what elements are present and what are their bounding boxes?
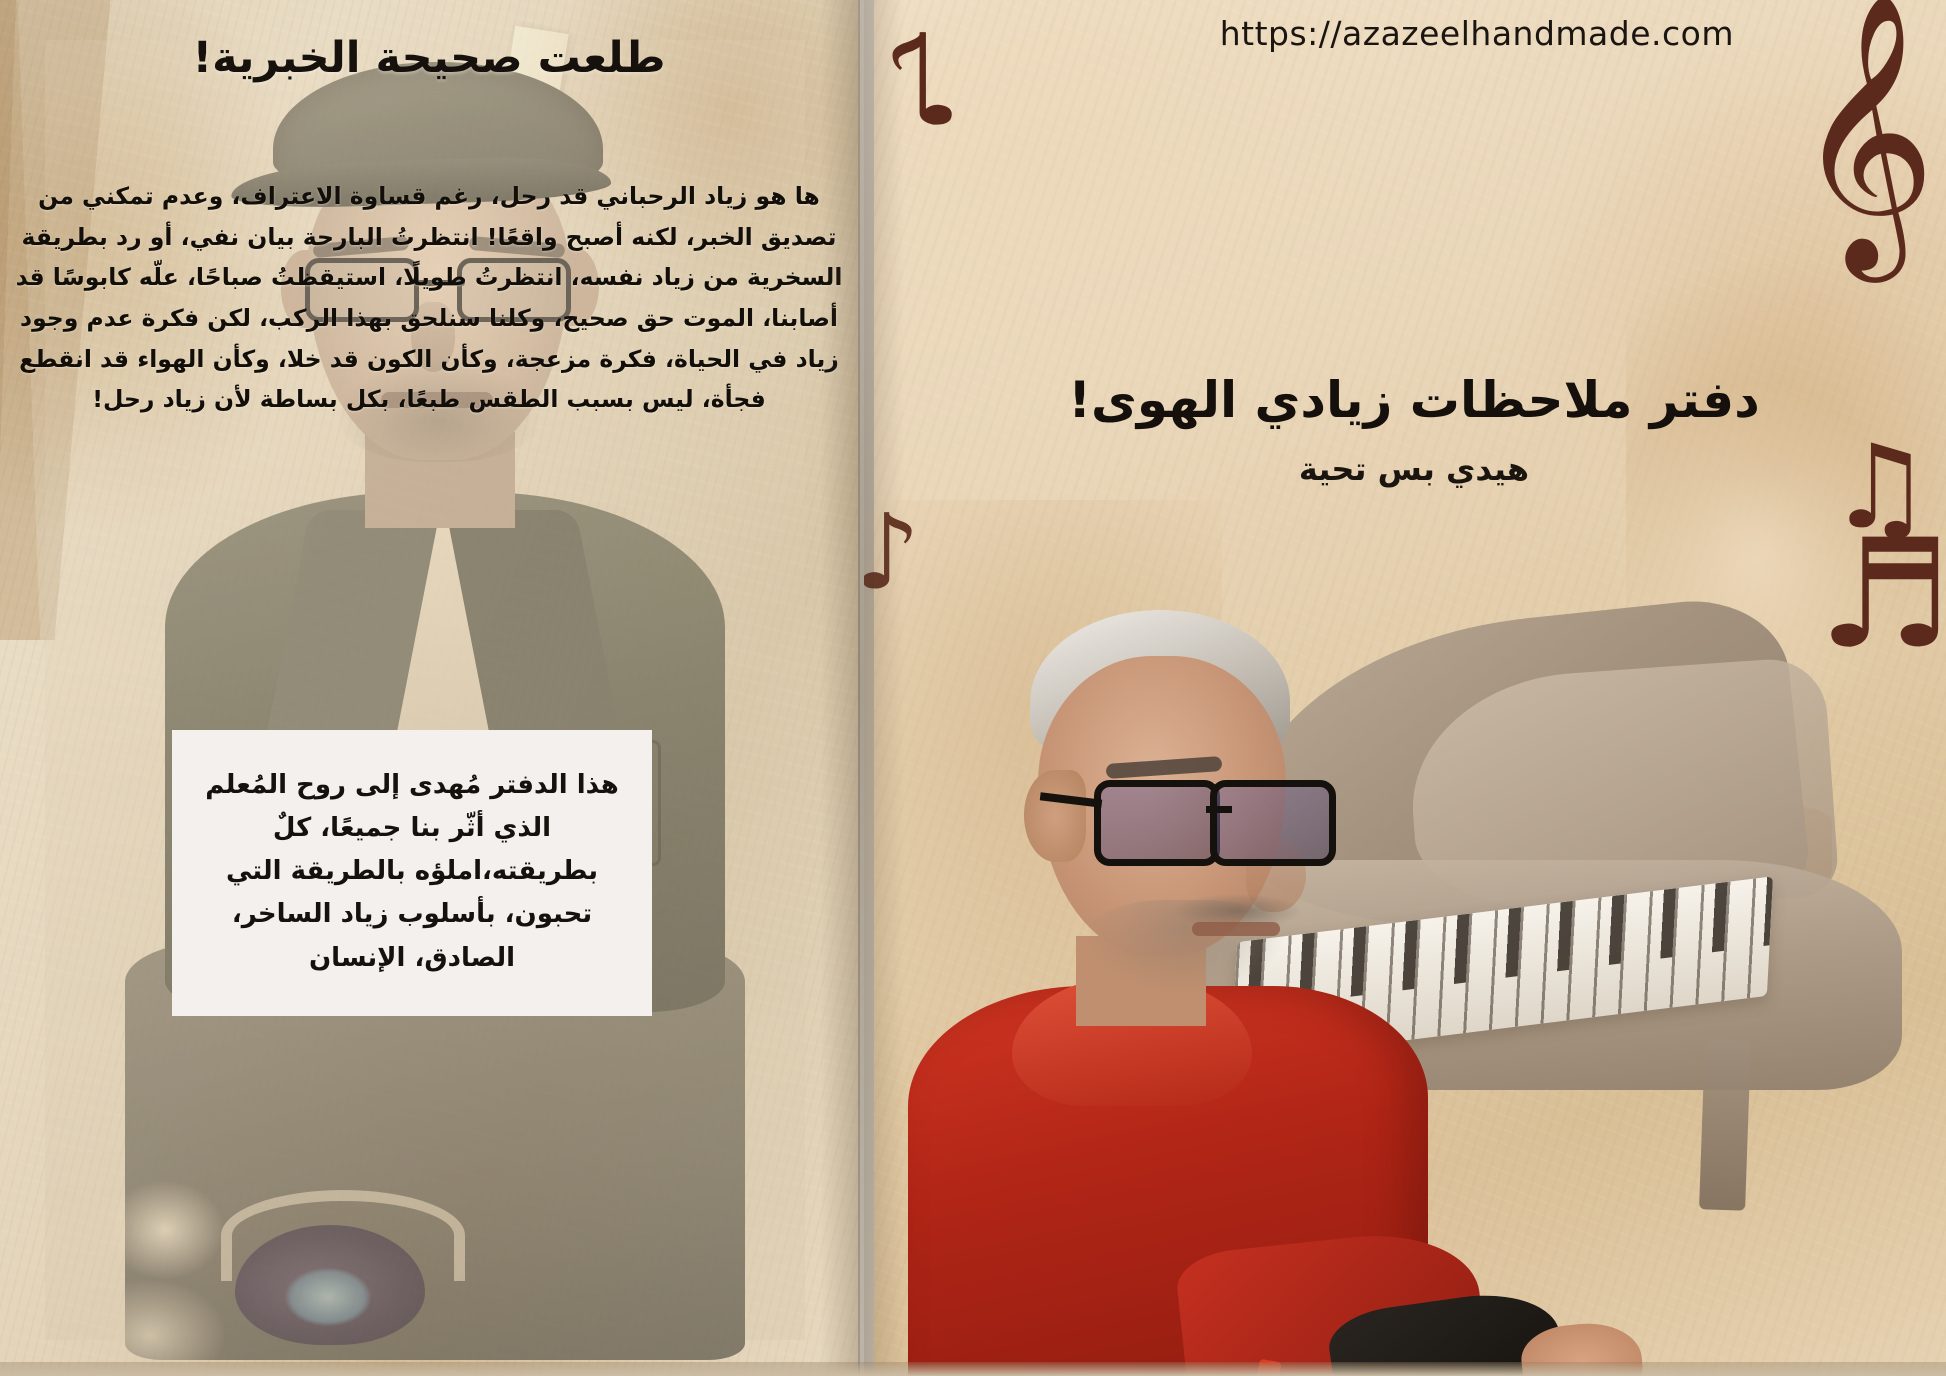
eighth-note-secondary-icon: ♪ xyxy=(862,500,920,604)
pianist-lens-left xyxy=(1094,780,1220,866)
right-page: ♪ 𝄞 ♫ ♪ ♬ https://azazeelhandmade.com دف… xyxy=(862,0,1946,1376)
piano-leg xyxy=(1699,1039,1751,1211)
spread-bottom-edge xyxy=(0,1362,1946,1376)
pianist-photo xyxy=(862,600,1482,1376)
pianist-mouth xyxy=(1192,922,1280,936)
left-page-heading: طلعت صحيحة الخبرية! xyxy=(0,33,858,85)
left-page-paragraph: ها هو زياد الرحباني قد رحل، رغم قساوة ال… xyxy=(14,176,844,420)
right-page-title: دفتر ملاحظات زيادي الهوى! xyxy=(942,370,1886,431)
page-gutter xyxy=(858,0,864,1376)
eighth-note-icon: ♪ xyxy=(882,18,962,144)
pianist-glasses xyxy=(1094,780,1330,854)
treble-clef-icon: 𝄞 xyxy=(1794,10,1936,250)
dedication-text: هذا الدفتر مُهدى إلى روح المُعلم الذي أث… xyxy=(202,764,622,980)
website-url[interactable]: https://azazeelhandmade.com xyxy=(1220,14,1734,53)
left-page: طلعت صحيحة الخبرية! ها هو زياد الرحباني … xyxy=(0,0,858,1376)
pianist-glasses-bridge xyxy=(1206,806,1232,813)
pianist-lens-right xyxy=(1210,780,1336,866)
notebook-spread: طلعت صحيحة الخبرية! ها هو زياد الرحباني … xyxy=(0,0,1946,1376)
right-page-subtitle: هيدي بس تحية xyxy=(942,450,1886,488)
pianist-ear xyxy=(1024,770,1086,862)
dedication-box: هذا الدفتر مُهدى إلى روح المُعلم الذي أث… xyxy=(172,730,652,1016)
left-page-content: طلعت صحيحة الخبرية! ها هو زياد الرحباني … xyxy=(0,0,858,1376)
